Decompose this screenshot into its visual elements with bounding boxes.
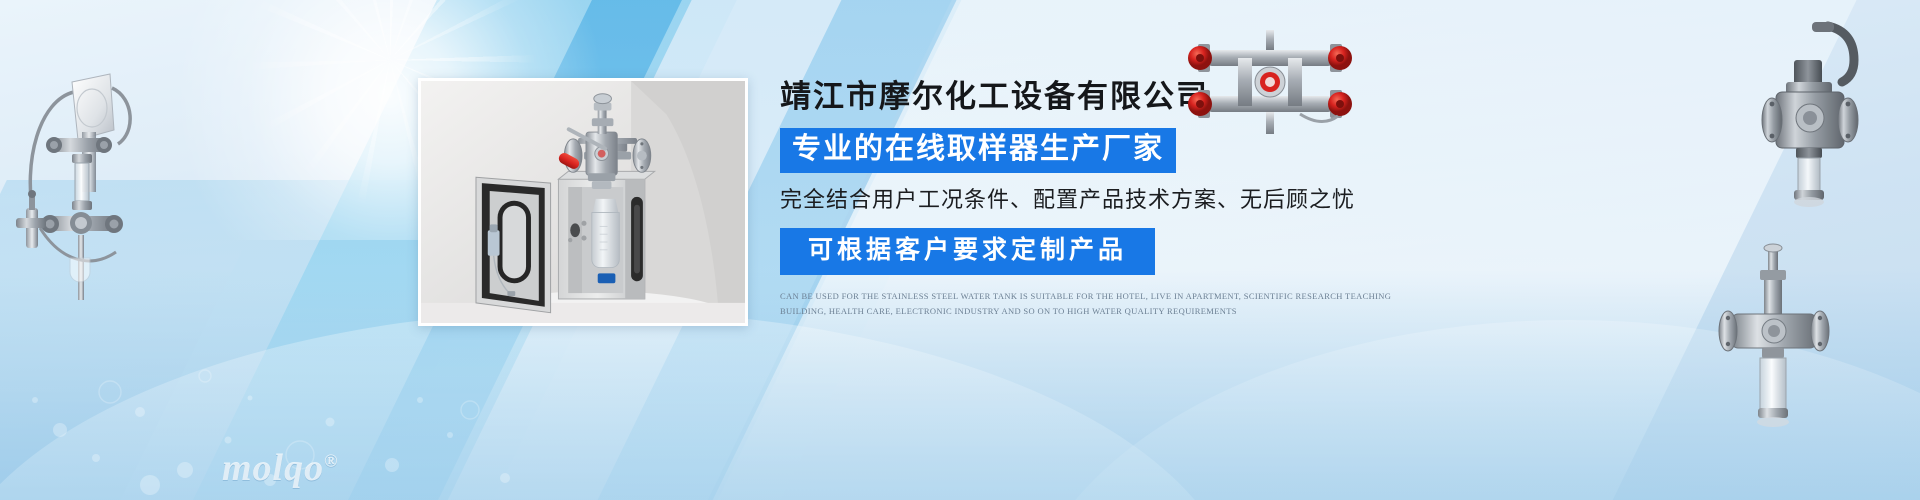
headline-highlight-bar: 专业的在线取样器生产厂家 bbox=[780, 128, 1176, 173]
custom-product-cta[interactable]: 可根据客户要求定制产品 bbox=[780, 228, 1155, 275]
headline-text: 专业的在线取样器生产厂家 bbox=[792, 133, 1164, 165]
background-wave bbox=[0, 310, 1240, 500]
promo-banner: 靖江市摩尔化工设备有限公司 专业的在线取样器生产厂家 完全结合用户工况条件、配置… bbox=[0, 0, 1920, 500]
product-photo bbox=[418, 78, 748, 326]
subheadline-text: 完全结合用户工况条件、配置产品技术方案、无后顾之忧 bbox=[780, 186, 1440, 215]
fineprint-text: CAN BE USED FOR THE STAINLESS STEEL WATE… bbox=[780, 289, 1420, 319]
product-ball-valve bbox=[1698, 240, 1858, 440]
watermark-text: molqo bbox=[222, 447, 324, 489]
left-device-illustration bbox=[10, 20, 200, 300]
watermark-logo: molqo® bbox=[222, 446, 339, 490]
product-valve-manifold bbox=[1180, 28, 1360, 138]
registered-mark-icon: ® bbox=[324, 450, 338, 470]
cta-label: 可根据客户要求定制产品 bbox=[808, 236, 1127, 264]
product-sampling-valve bbox=[1732, 20, 1892, 210]
